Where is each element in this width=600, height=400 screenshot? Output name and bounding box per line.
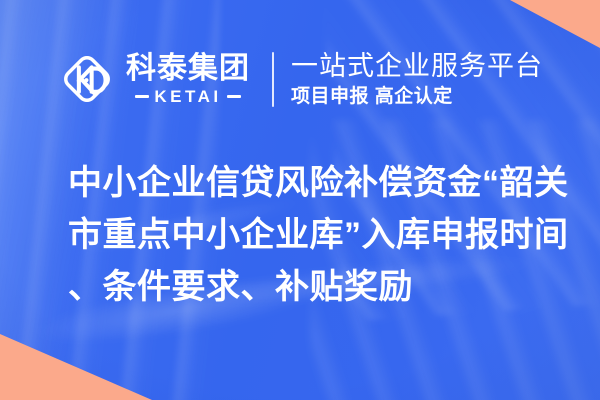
dash-right-icon (227, 95, 241, 98)
headline-block: 中小企业信贷风险补偿资金“韶关 市重点中小企业库”入库申报时间 、条件要求、补贴… (68, 157, 568, 313)
brand-name-en: KETAI (154, 88, 221, 106)
tagline-secondary: 项目申报 高企认定 (291, 86, 543, 108)
brand-wordmark: 科泰集团 KETAI (126, 53, 250, 106)
tagline-primary: 一站式企业服务平台 (291, 51, 543, 81)
tagline-group: 一站式企业服务平台 项目申报 高企认定 (291, 51, 543, 108)
dash-left-icon (135, 95, 149, 98)
brand-name-en-row: KETAI (135, 88, 240, 106)
promo-banner: 科泰集团 KETAI 一站式企业服务平台 项目申报 高企认定 中小企业信贷风险补… (0, 0, 600, 400)
headline-line-3: 、条件要求、补贴奖励 (68, 261, 568, 313)
brand-logo: 科泰集团 KETAI (58, 50, 250, 108)
brand-name-cn: 科泰集团 (126, 53, 250, 85)
headline-line-1: 中小企业信贷风险补偿资金“韶关 (68, 157, 568, 209)
ketai-diamond-monogram-icon (58, 50, 116, 108)
banner-header: 科泰集团 KETAI 一站式企业服务平台 项目申报 高企认定 (0, 40, 600, 118)
headline-line-2: 市重点中小企业库”入库申报时间 (68, 209, 568, 261)
header-divider (272, 52, 274, 107)
